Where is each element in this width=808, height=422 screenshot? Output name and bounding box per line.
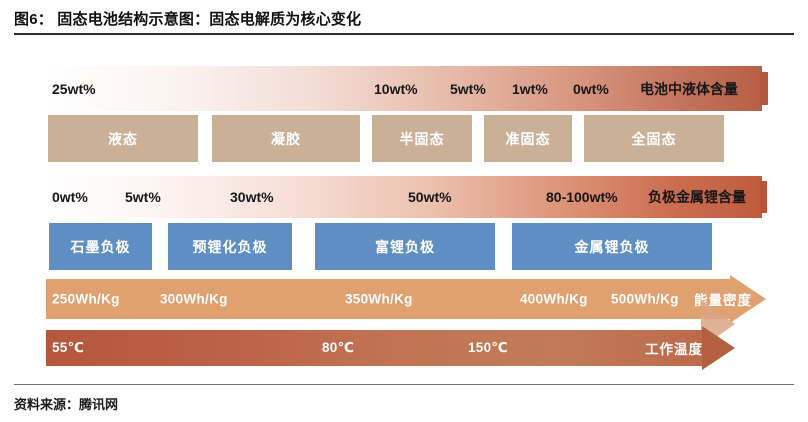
lithium-content-bar-tail (760, 181, 767, 213)
energy-tick-300: 300Wh/Kg (160, 292, 228, 307)
figure-title: 图6： 固态电池结构示意图：固态电解质为核心变化 (14, 8, 361, 29)
lithium-tick-80-100: 80-100wt% (546, 189, 618, 205)
liquid-content-axis-label: 电池中液体含量 (640, 79, 738, 99)
liquid-tick-25: 25wt% (52, 81, 96, 97)
state-chip-quasi-solid[interactable]: 准固态 (484, 115, 572, 162)
liquid-content-bar: 25wt% 10wt% 5wt% 1wt% 0wt% 电池中液体含量 (46, 66, 762, 111)
temperature-arrow-body (46, 330, 702, 366)
lithium-tick-5: 5wt% (125, 189, 161, 205)
energy-tick-350: 350Wh/Kg (345, 292, 413, 307)
anode-chip-lithium-rich[interactable]: 富锂负极 (315, 223, 495, 270)
temperature-tick-55: 55℃ (52, 340, 84, 356)
state-chip-liquid[interactable]: 液态 (48, 115, 198, 162)
temperature-arrow-head (702, 326, 735, 370)
working-temperature-arrow: 55℃ 80℃ 150℃ 工作温度 (46, 330, 766, 366)
energy-tick-500: 500Wh/Kg (611, 292, 679, 307)
energy-tick-250: 250Wh/Kg (52, 292, 120, 307)
lithium-tick-0: 0wt% (52, 189, 88, 205)
liquid-tick-1: 1wt% (512, 81, 548, 97)
state-chip-row: 液态 凝胶 半固态 准固态 全固态 (0, 115, 808, 162)
source-divider (14, 384, 794, 385)
lithium-content-axis-label: 负极金属锂含量 (648, 187, 746, 207)
anode-chip-lithium-metal[interactable]: 金属锂负极 (512, 223, 712, 270)
anode-chip-prelithiated[interactable]: 预锂化负极 (168, 223, 292, 270)
energy-density-arrow: 250Wh/Kg 300Wh/Kg 350Wh/Kg 400Wh/Kg 500W… (46, 279, 766, 319)
liquid-tick-5: 5wt% (450, 81, 486, 97)
figure-page: 图6： 固态电池结构示意图：固态电解质为核心变化 25wt% 10wt% 5wt… (0, 0, 808, 422)
temperature-tick-80: 80℃ (322, 340, 354, 356)
anode-chip-row: 石墨负极 预锂化负极 富锂负极 金属锂负极 (0, 223, 808, 270)
source-note: 资料来源：腾讯网 (14, 394, 118, 413)
anode-chip-graphite[interactable]: 石墨负极 (49, 223, 152, 270)
lithium-tick-30: 30wt% (230, 189, 274, 205)
state-chip-all-solid[interactable]: 全固态 (584, 115, 724, 162)
state-chip-gel[interactable]: 凝胶 (212, 115, 360, 162)
state-chip-semi-solid[interactable]: 半固态 (372, 115, 472, 162)
lithium-content-bar: 0wt% 5wt% 30wt% 50wt% 80-100wt% 负极金属锂含量 (46, 176, 762, 218)
lithium-tick-50: 50wt% (408, 189, 452, 205)
liquid-content-bar-tail (760, 72, 768, 105)
energy-tick-400: 400Wh/Kg (520, 292, 588, 307)
temperature-tick-150: 150℃ (468, 340, 508, 356)
liquid-tick-0: 0wt% (573, 81, 609, 97)
liquid-tick-10: 10wt% (374, 81, 418, 97)
title-divider (14, 33, 794, 35)
working-temperature-axis-label: 工作温度 (645, 338, 703, 358)
